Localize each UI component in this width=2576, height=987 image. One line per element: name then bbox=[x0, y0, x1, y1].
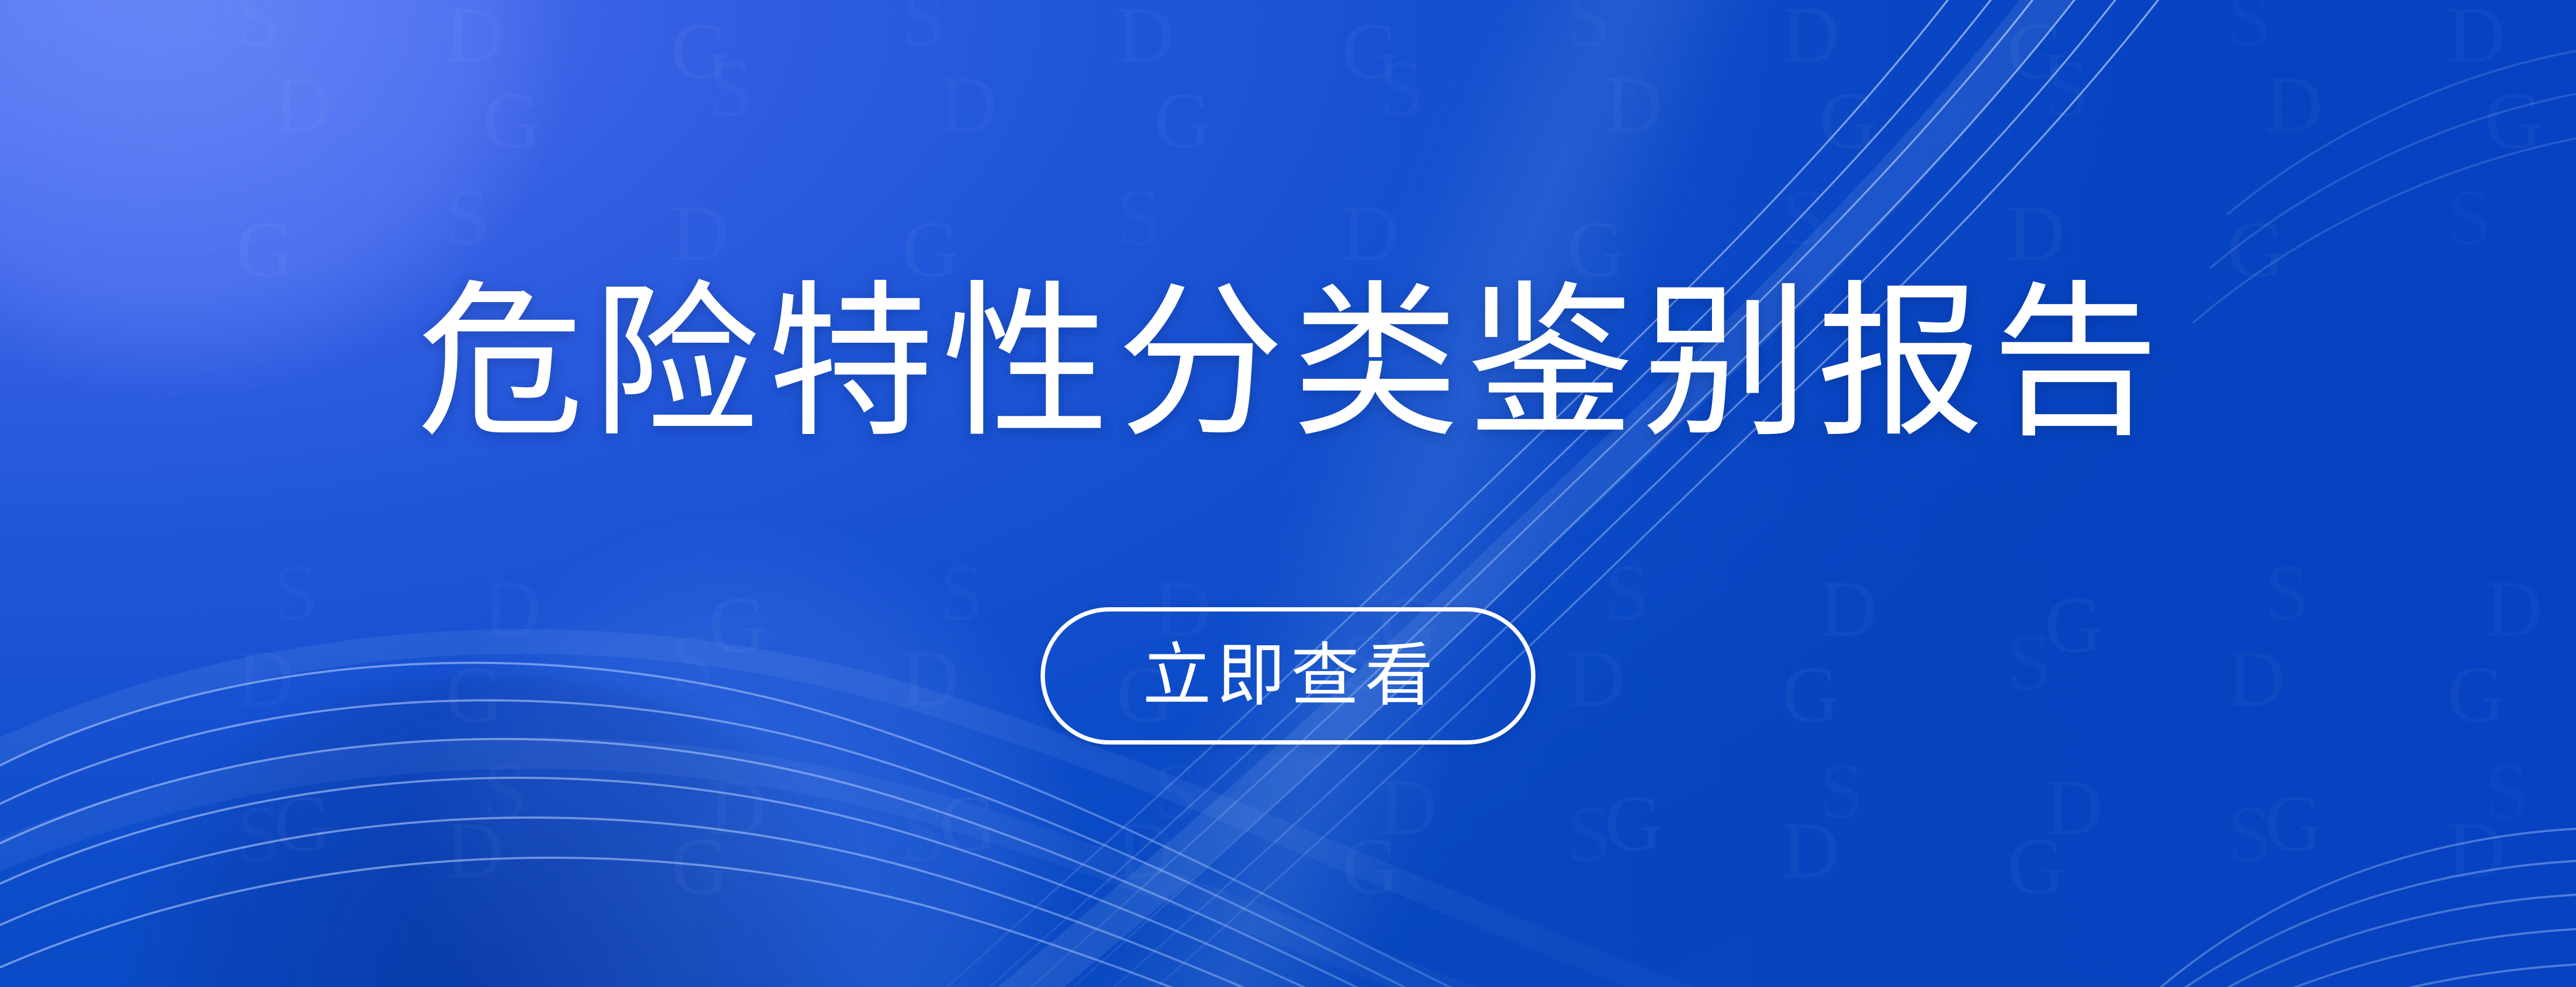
view-now-button-label: 立即查看 bbox=[1137, 642, 1439, 710]
banner-content: 危险特性分类鉴别报告 立即查看 bbox=[0, 0, 2576, 987]
banner-title: 危险特性分类鉴别报告 bbox=[409, 275, 2167, 452]
promo-banner: SDGSDGSDGSDGSDGSDGSDGSDGSDGSDGSDGSDGSDGS… bbox=[0, 0, 2576, 987]
view-now-button[interactable]: 立即查看 bbox=[1041, 607, 1535, 745]
